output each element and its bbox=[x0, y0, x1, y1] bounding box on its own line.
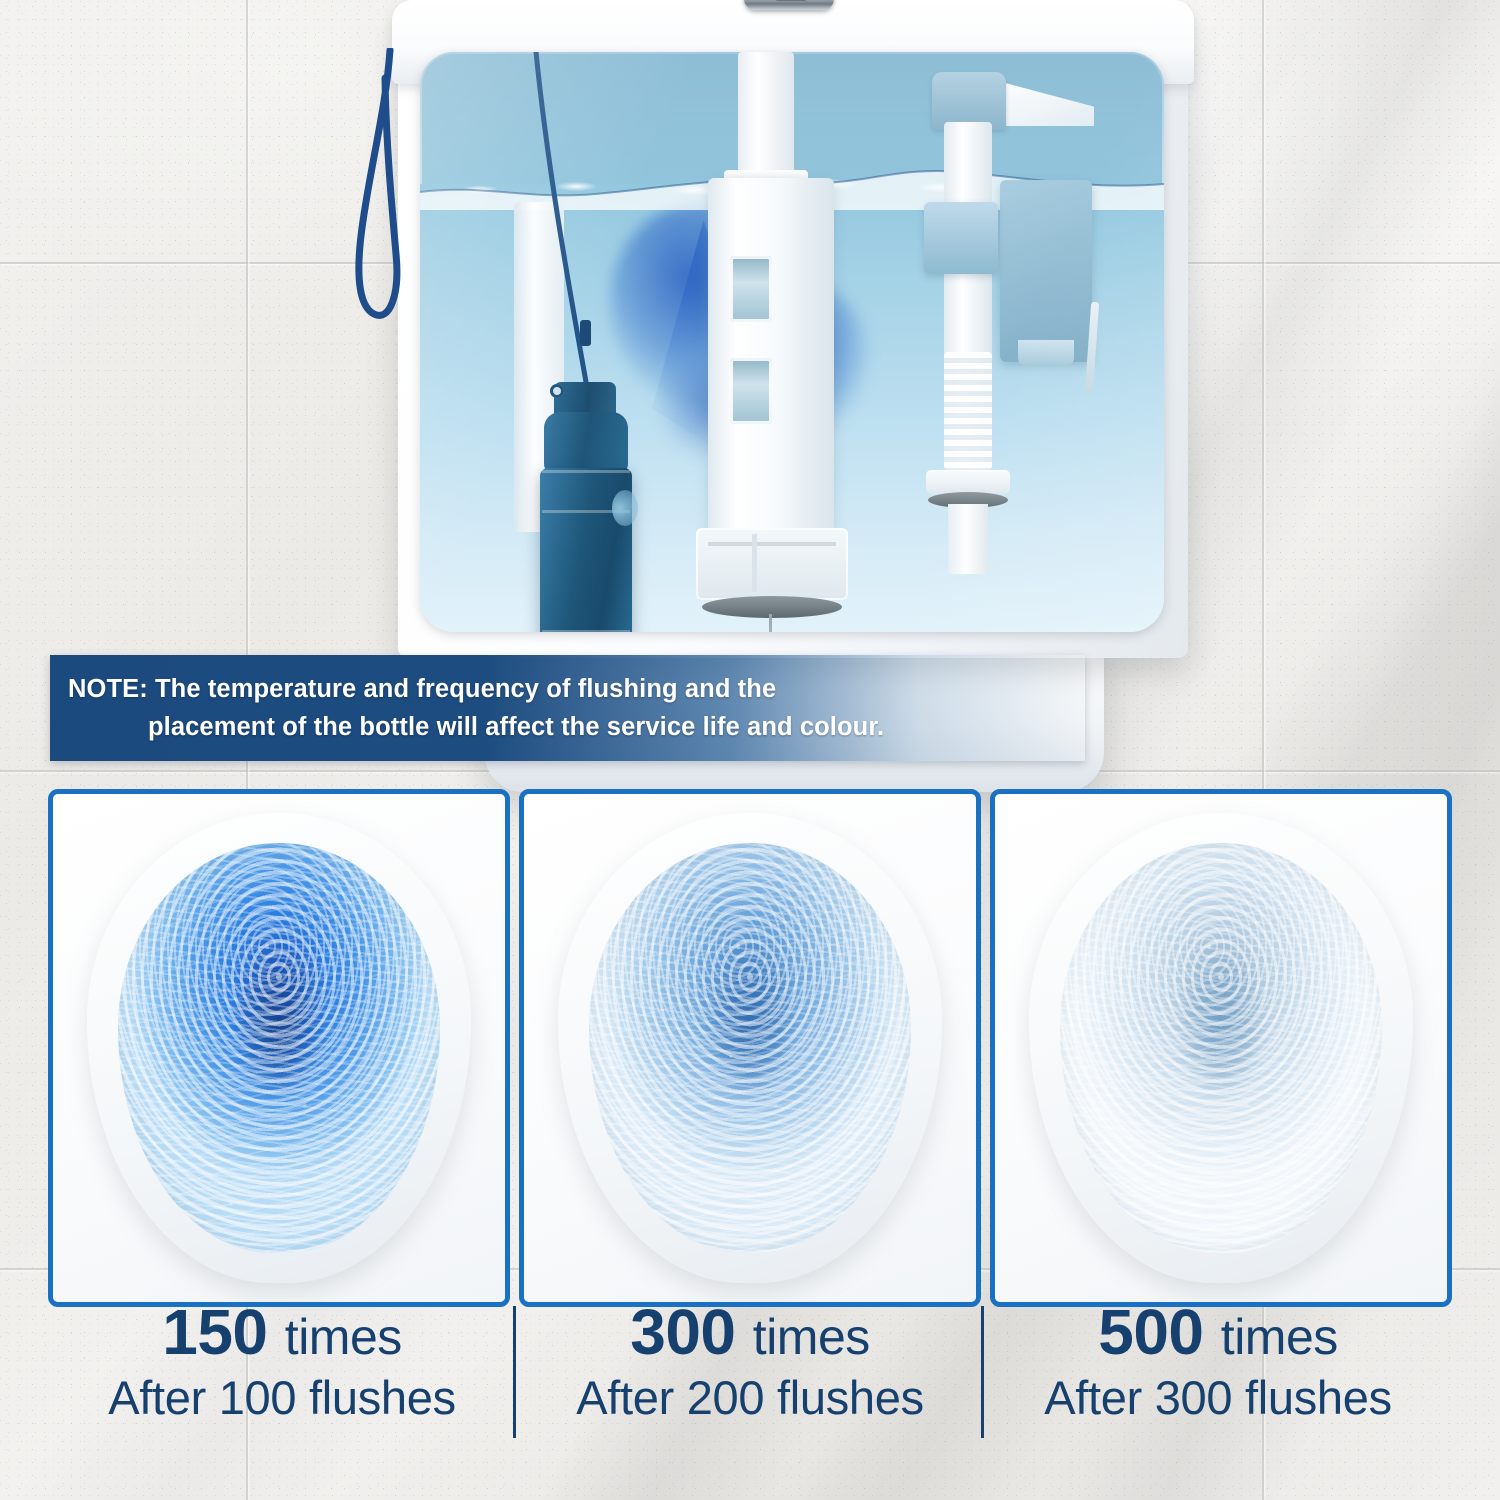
hanging-lanyard-icon bbox=[352, 48, 422, 348]
overflow-tube bbox=[738, 52, 794, 180]
bowl-water bbox=[589, 843, 911, 1253]
note-line-2: placement of the bottle will affect the … bbox=[148, 713, 1085, 742]
bottle-ring bbox=[542, 630, 630, 632]
result-panel-300[interactable] bbox=[519, 789, 981, 1307]
caption-unit: times bbox=[285, 1309, 402, 1365]
bottle-shoulder bbox=[544, 412, 628, 474]
caption-unit: times bbox=[753, 1309, 870, 1365]
caption-count-row: 300 times bbox=[516, 1300, 984, 1365]
caption-unit: times bbox=[1221, 1309, 1338, 1365]
tank-cutaway-window bbox=[420, 52, 1164, 632]
bowl-scene bbox=[995, 794, 1447, 1302]
caption-count: 500 bbox=[1098, 1296, 1203, 1368]
caption-count-row: 500 times bbox=[984, 1300, 1452, 1365]
note-line-1: NOTE: The temperature and frequency of f… bbox=[68, 675, 1085, 704]
flush-valve-basket bbox=[696, 528, 848, 600]
bowl-scene bbox=[524, 794, 976, 1302]
flush-valve-window bbox=[730, 358, 772, 424]
caption-500: 500 times After 300 flushes bbox=[984, 1300, 1452, 1475]
bottle-ring bbox=[542, 470, 630, 473]
bottle-dispensing-hole bbox=[612, 490, 638, 526]
flush-valve-window bbox=[730, 256, 772, 322]
caption-300: 300 times After 200 flushes bbox=[516, 1300, 984, 1475]
result-panel-150[interactable] bbox=[48, 789, 510, 1307]
flush-valve-chain bbox=[769, 614, 772, 632]
bottle-eyelet bbox=[550, 384, 564, 398]
result-panel-500[interactable] bbox=[990, 789, 1452, 1307]
water-bubbles bbox=[118, 843, 440, 1253]
fill-valve-float-cup bbox=[924, 202, 998, 274]
caption-count: 150 bbox=[162, 1296, 267, 1368]
blue-cleaner-bottle bbox=[538, 382, 634, 632]
caption-subtitle: After 200 flushes bbox=[516, 1371, 984, 1425]
bowl-water bbox=[118, 843, 440, 1253]
bowl-scene bbox=[53, 794, 505, 1302]
result-panels bbox=[48, 789, 1452, 1297]
flush-valve-body bbox=[708, 178, 834, 534]
bowl-water bbox=[1060, 843, 1382, 1253]
fill-valve-tailpiece bbox=[948, 504, 988, 574]
fill-valve-base bbox=[926, 470, 1010, 494]
flush-valve-seal bbox=[702, 596, 842, 618]
caption-subtitle: After 300 flushes bbox=[984, 1371, 1452, 1425]
caption-subtitle: After 100 flushes bbox=[48, 1371, 516, 1425]
caption-count: 300 bbox=[630, 1296, 735, 1368]
product-infographic: NOTE: The temperature and frequency of f… bbox=[0, 0, 1500, 1500]
result-captions: 150 times After 100 flushes 300 times Af… bbox=[48, 1300, 1452, 1475]
flush-button-icon[interactable] bbox=[744, 0, 834, 10]
caption-150: 150 times After 100 flushes bbox=[48, 1300, 516, 1475]
fill-valve-ribbed-shank bbox=[944, 352, 992, 470]
caption-count-row: 150 times bbox=[48, 1300, 516, 1365]
water-bubbles bbox=[1060, 843, 1382, 1253]
water-bubbles bbox=[589, 843, 911, 1253]
fill-valve-float bbox=[1000, 180, 1092, 362]
note-banner: NOTE: The temperature and frequency of f… bbox=[50, 655, 1085, 761]
